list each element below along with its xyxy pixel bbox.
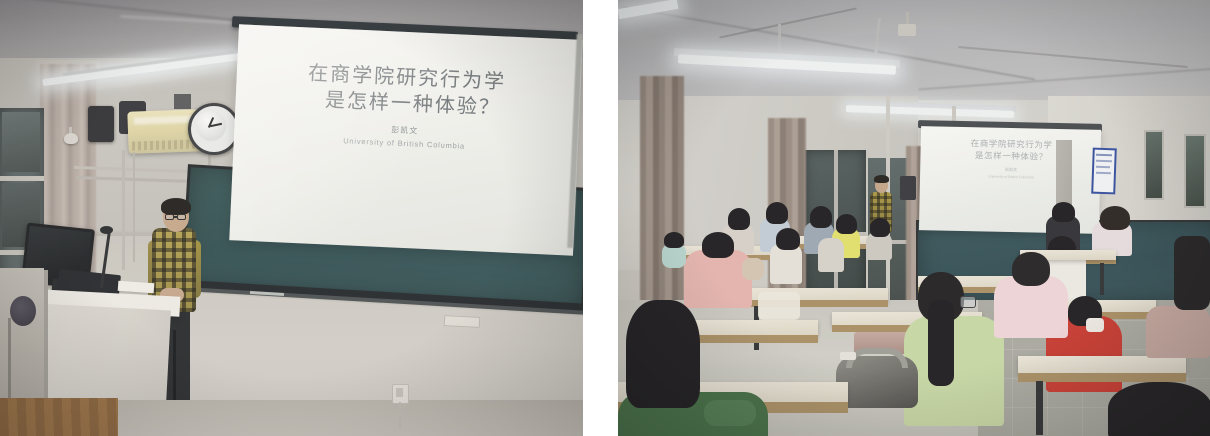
screen-glare — [229, 24, 582, 255]
poster-text-line — [1096, 166, 1110, 168]
presenter-hair — [874, 175, 889, 183]
student-torso — [684, 250, 752, 308]
window-pane — [2, 112, 40, 172]
ceiling-speaker — [88, 106, 114, 142]
student-long-hair — [928, 300, 954, 386]
student-hair — [1100, 206, 1130, 230]
light-suspension-rod — [778, 24, 781, 56]
window — [1144, 130, 1164, 200]
desk-leg — [1100, 263, 1104, 295]
student-hair — [626, 300, 700, 408]
student-hair — [776, 228, 800, 250]
wood-floor-section — [0, 398, 118, 436]
student-desk — [1018, 356, 1186, 374]
ceiling-speaker — [900, 176, 916, 200]
presenter-glasses-bridge — [174, 216, 178, 218]
presenter-glasses-lens — [177, 214, 186, 220]
outlet-wire — [399, 402, 401, 428]
student-glasses — [960, 296, 976, 308]
right-photo-audience-view: 在商学院研究行为学 是怎样一种体验？ 彭凯文 University of Bri… — [618, 0, 1210, 436]
phone — [840, 352, 856, 360]
student-torso — [818, 238, 844, 272]
microphone-head — [100, 226, 113, 234]
desk-edge — [1018, 373, 1186, 382]
student-hair — [810, 206, 832, 228]
ac-control-box — [174, 94, 191, 109]
student-collar — [1086, 318, 1104, 332]
ceiling-projector — [898, 24, 916, 36]
presenter-hair — [161, 198, 191, 215]
wall-plate — [444, 315, 481, 328]
student-hair — [870, 218, 890, 237]
photo-composite: 在商学院研究行为学 是怎样一种体验？ 彭凯文 University of Bri… — [0, 0, 1210, 436]
window-frame — [0, 176, 44, 181]
student-hair — [1012, 252, 1050, 286]
outlet-socket — [396, 388, 403, 397]
left-photo-lecture-front: 在商学院研究行为学 是怎样一种体验？ 彭凯文 University of Bri… — [0, 0, 583, 436]
ceiling-sensor — [64, 133, 78, 144]
student-hair — [1108, 382, 1210, 436]
student-chair — [1146, 306, 1210, 358]
student-torso — [904, 316, 1004, 426]
student-arm — [704, 400, 756, 426]
wall-conduit — [133, 152, 135, 262]
student-hair — [1052, 202, 1075, 222]
presenter-glasses-lens — [165, 214, 174, 220]
student-hair — [702, 232, 734, 258]
plastic-bag — [758, 292, 800, 320]
presenter-trouser-seam — [173, 330, 176, 410]
student-hair — [766, 202, 788, 224]
student-hair — [728, 208, 750, 230]
student-torso — [770, 244, 802, 284]
window — [1184, 134, 1206, 208]
wall-conduit — [122, 150, 125, 270]
student-long-hair — [1174, 236, 1210, 310]
student-hair — [664, 232, 684, 248]
desk-leg — [1036, 381, 1043, 435]
student-arm — [742, 258, 764, 280]
student-hair — [836, 214, 857, 234]
